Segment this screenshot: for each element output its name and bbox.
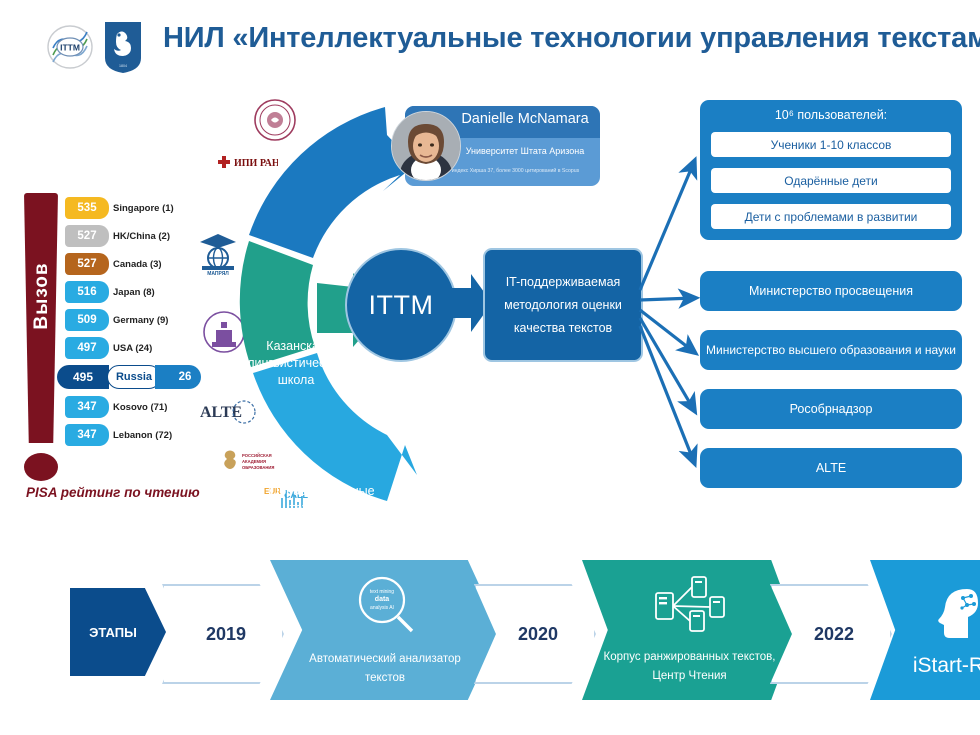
header: ITTM 1804 НИЛ «Интеллектуальные технолог…: [0, 0, 980, 80]
user-group-special-needs[interactable]: Дети с проблемами в развитии: [711, 204, 951, 229]
expert-organization: Университет Штата Аризона: [455, 146, 595, 156]
maprial-logo-icon: МАПРЯЛ: [196, 228, 240, 281]
ittm-core-circle: ITTM: [345, 248, 457, 362]
avatar: [391, 111, 461, 181]
users-panel: 10⁶ пользователей: Ученики 1-10 классов …: [700, 100, 962, 240]
pisa-country: Kosovo (71): [113, 396, 167, 418]
pisa-row: 535 Singapore (1): [65, 197, 210, 222]
magnifier-wordcloud-icon: text mining data analysis AI: [352, 573, 418, 644]
ittm-core-label: ITTM: [369, 290, 434, 321]
user-group-gifted[interactable]: Одарённые дети: [711, 168, 951, 193]
pisa-country: Singapore (1): [113, 197, 174, 219]
segment-edu-label: Образовательные технологии: [263, 483, 381, 517]
methodology-line-1: IT-поддерживаемая: [506, 271, 621, 294]
timeline-start-label: ЭТАПЫ: [89, 625, 137, 640]
expert-profile-card: Danielle McNamara Университет Штата Ариз…: [405, 106, 600, 186]
users-panel-title: 10⁶ пользователей:: [700, 108, 962, 122]
timeline-stage-analyzer: text mining data analysis AI Автоматичес…: [270, 560, 500, 700]
pisa-ranking-panel: Вызов 535 Singapore (1) 527 HK/China (2)…: [10, 185, 205, 505]
stage-istart-label: iStart-RU: [913, 654, 980, 678]
year-2019-label: 2019: [206, 624, 246, 645]
user-group-students[interactable]: Ученики 1-10 классов: [711, 132, 951, 157]
stakeholder-ministry-higher-education[interactable]: Министерство высшего образования и науки: [700, 330, 962, 370]
pisa-country-russia: Russia: [107, 365, 161, 389]
pisa-score: 527: [65, 225, 109, 247]
svg-text:МАПРЯЛ: МАПРЯЛ: [207, 271, 229, 276]
timeline-year-2019: 2019: [162, 584, 284, 684]
pisa-country: HK/China (2): [113, 225, 170, 247]
pisa-country: USA (24): [113, 337, 152, 359]
pisa-row: 509 Germany (9): [65, 309, 210, 334]
svg-text:1804: 1804: [119, 64, 127, 68]
stakeholder-arrows: [636, 120, 706, 480]
pisa-rows: 535 Singapore (1) 527 HK/China (2) 527 C…: [65, 197, 210, 452]
svg-text:ITTM: ITTM: [60, 43, 80, 53]
roadmap-timeline: ЭТАПЫ 2019 text mining data analysis AI …: [70, 560, 950, 710]
challenge-arrow: Вызов: [24, 193, 58, 443]
ittm-logo-icon: ITTM: [45, 22, 95, 72]
stage-analyzer-label: Автоматический анализатор текстов: [295, 650, 475, 688]
pisa-score: 497: [65, 337, 109, 359]
timeline-stage-corpus: Корпус ранжированных текстов, Центр Чтен…: [582, 560, 797, 700]
pisa-score: 527: [65, 253, 109, 275]
expert-name: Danielle McNamara: [455, 111, 595, 127]
pisa-score: 509: [65, 309, 109, 331]
pisa-caption: PISA рейтинг по чтению: [26, 485, 226, 500]
svg-text:text mining: text mining: [370, 589, 394, 595]
stakeholder-ministry-education[interactable]: Министерство просвещения: [700, 271, 962, 311]
pisa-country: Lebanon (72): [113, 424, 172, 446]
svg-text:data: data: [375, 596, 390, 603]
pisa-row: 516 Japan (8): [65, 281, 210, 306]
stakeholder-rosobrnadzor[interactable]: Рособрнадзор: [700, 389, 962, 429]
stakeholder-alte[interactable]: ALTE: [700, 448, 962, 488]
pisa-row-russia: 495 Russia 26: [65, 365, 210, 393]
pisa-score: 516: [65, 281, 109, 303]
pisa-row: 347 Kosovo (71): [65, 396, 210, 421]
pisa-score: 535: [65, 197, 109, 219]
pisa-score: 347: [65, 424, 109, 446]
brain-head-icon: [929, 583, 980, 650]
pisa-score: 347: [65, 396, 109, 418]
methodology-line-2: методология оценки: [504, 294, 622, 317]
slide-canvas: ITTM 1804 НИЛ «Интеллектуальные технолог…: [0, 0, 980, 735]
segment-kazan-label: Казанская лингвистическая школа: [237, 338, 355, 389]
servers-network-icon: [650, 575, 730, 640]
pisa-country: Japan (8): [113, 281, 155, 303]
methodology-box: IT-поддерживаемая методология оценки кач…: [483, 248, 643, 362]
pisa-score-russia: 495: [57, 365, 109, 389]
timeline-start-chevron: ЭТАПЫ: [70, 588, 166, 676]
challenge-label: Вызов: [31, 226, 53, 366]
kfu-shield-logo-icon: 1804: [103, 20, 143, 74]
pisa-rank-russia: 26: [155, 365, 201, 389]
pisa-row: 497 USA (24): [65, 337, 210, 362]
svg-text:analysis AI: analysis AI: [370, 605, 394, 611]
pisa-row: 527 HK/China (2): [65, 225, 210, 250]
methodology-line-3: качества текстов: [514, 317, 612, 340]
challenge-dot: [24, 453, 58, 481]
pisa-country: Germany (9): [113, 309, 168, 331]
page-title: НИЛ «Интеллектуальные технологии управле…: [163, 22, 980, 55]
expert-metrics: индекс Хирша 37, более 3000 цитирований …: [433, 168, 598, 174]
stage-corpus-label: Корпус ранжированных текстов, Центр Чтен…: [600, 648, 780, 686]
year-2022-label: 2022: [814, 624, 854, 645]
pisa-country: Canada (3): [113, 253, 162, 275]
pisa-row: 347 Lebanon (72): [65, 424, 210, 449]
year-2020-label: 2020: [518, 624, 558, 645]
pisa-row: 527 Canada (3): [65, 253, 210, 278]
